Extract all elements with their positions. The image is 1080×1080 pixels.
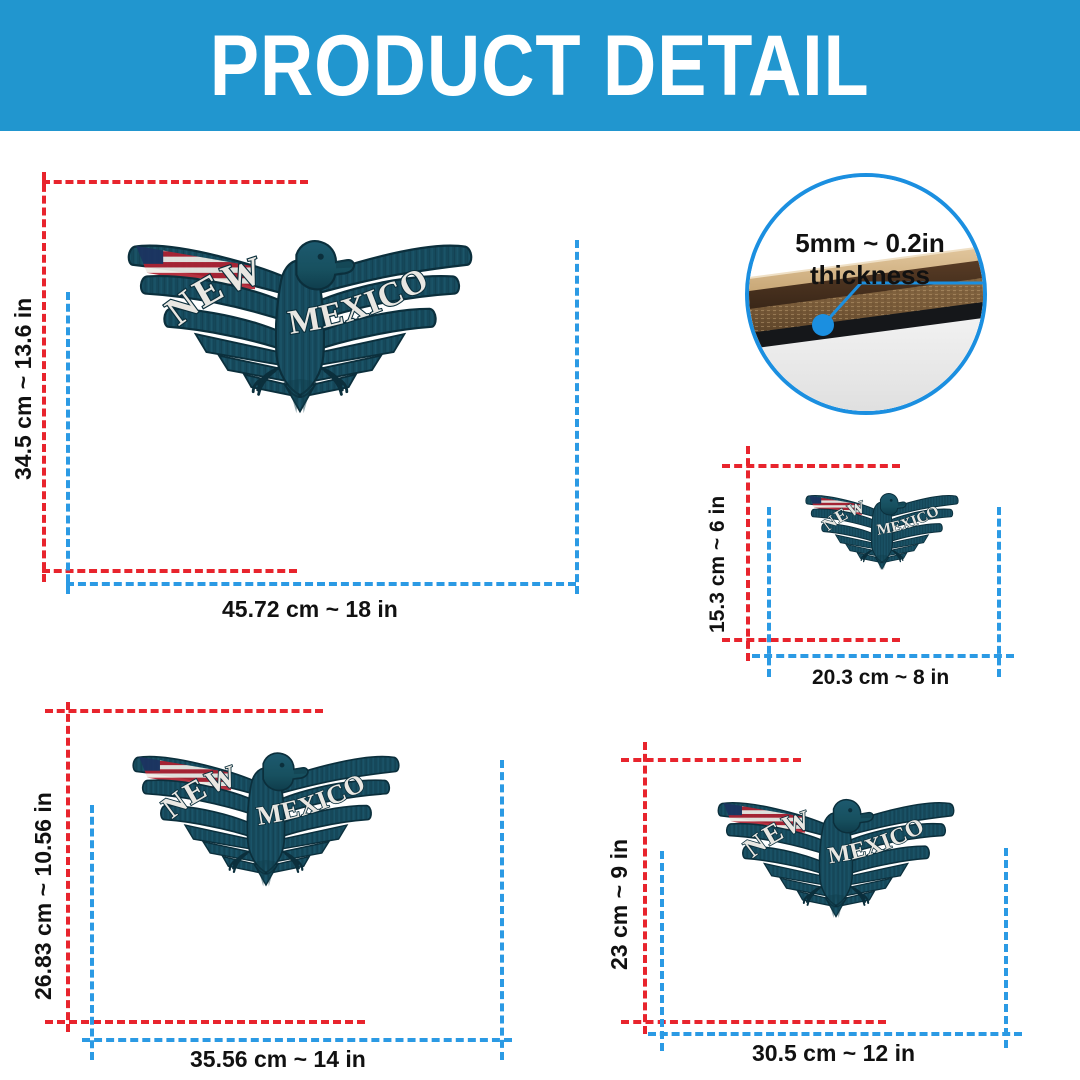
eagle-artwork-18in	[120, 224, 480, 418]
blue-vline-left-8in	[767, 507, 771, 677]
thickness-leader-dot	[812, 314, 834, 336]
thickness-line-2: thickness	[770, 260, 970, 292]
red-vline-left-18in	[42, 172, 46, 582]
eagle-artwork-14in	[126, 740, 406, 890]
width-label-8in: 20.3 cm ~ 8 in	[812, 666, 949, 690]
red-vline-left-14in	[66, 702, 70, 1032]
red-vline-left-8in	[746, 446, 750, 661]
magnifier-contents	[749, 177, 983, 411]
blue-vline-right-14in	[500, 760, 504, 1060]
red-vline-left-12in	[643, 742, 647, 1034]
red-hline-top-12in	[621, 758, 801, 762]
red-hline-bottom-18in	[42, 569, 297, 573]
blue-vline-right-8in	[997, 507, 1001, 677]
blue-vline-left-12in	[660, 851, 664, 1051]
red-hline-top-18in	[42, 180, 308, 184]
product-detail-banner: PRODUCT DETAIL	[0, 0, 1080, 131]
blue-hline-bottom-12in	[648, 1032, 1022, 1036]
width-label-18in: 45.72 cm ~ 18 in	[222, 596, 398, 623]
eagle-artwork-8in	[802, 486, 962, 572]
eagle-artwork-12in	[712, 788, 960, 921]
blue-vline-right-12in	[1004, 848, 1008, 1048]
blue-vline-right-18in	[575, 240, 579, 594]
height-label-12in: 23 cm ~ 9 in	[606, 839, 633, 970]
thickness-magnifier	[745, 173, 987, 415]
blue-hline-bottom-14in	[82, 1038, 512, 1042]
thickness-label: 5mm ~ 0.2in thickness	[770, 228, 970, 291]
wood-edge-cross-section	[749, 177, 987, 415]
height-label-8in: 15.3 cm ~ 6 in	[706, 496, 730, 633]
blue-vline-left-18in	[66, 292, 70, 594]
blue-vline-left-14in	[90, 805, 94, 1060]
thickness-line-1: 5mm ~ 0.2in	[770, 228, 970, 260]
red-hline-top-8in	[722, 464, 900, 468]
page-title: PRODUCT DETAIL	[210, 23, 870, 109]
width-label-12in: 30.5 cm ~ 12 in	[752, 1040, 915, 1067]
height-label-18in: 34.5 cm ~ 13.6 in	[10, 298, 37, 480]
blue-hline-bottom-18in	[66, 582, 576, 586]
red-hline-top-14in	[45, 709, 323, 713]
blue-hline-bottom-8in	[752, 654, 1014, 658]
red-hline-bottom-8in	[722, 638, 900, 642]
height-label-14in: 26.83 cm ~ 10.56 in	[30, 792, 57, 1000]
width-label-14in: 35.56 cm ~ 14 in	[190, 1046, 366, 1073]
